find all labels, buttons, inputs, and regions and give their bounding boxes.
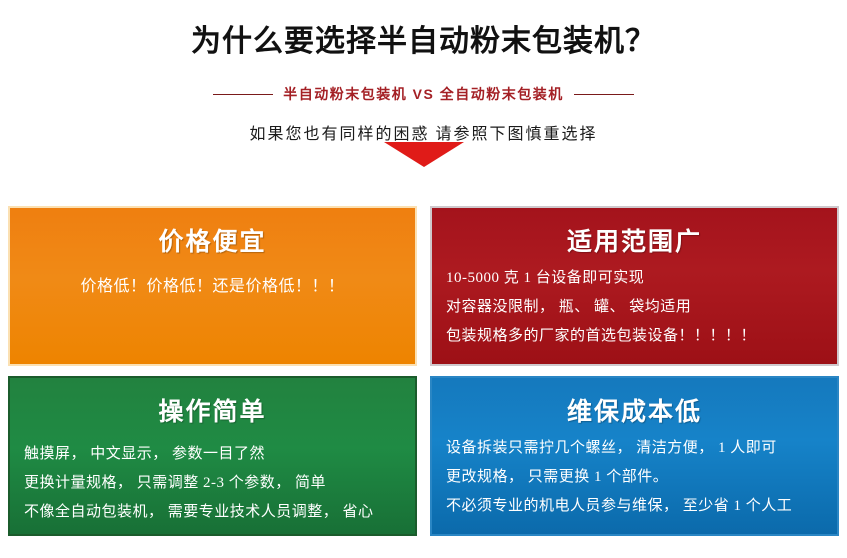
subtitle-text: 半自动粉末包装机 VS 全自动粉末包装机 [283, 84, 563, 104]
card-title: 适用范围广 [446, 222, 823, 258]
card-title: 操作简单 [24, 392, 401, 428]
page-title: 为什么要选择半自动粉末包装机？ [0, 24, 847, 60]
feature-card-simple-operation: 操作简单 触摸屏， 中文显示， 参数一目了然 更换计量规格， 只需调整 2-3 … [8, 376, 417, 536]
feature-card-wide-application: 适用范围广 10-5000 克 1 台设备即可实现 对容器没限制， 瓶、 罐、 … [430, 206, 839, 366]
feature-card-price-cheap: 价格便宜 价格低！价格低！还是价格低！！！ [8, 206, 417, 366]
arrow-container [0, 138, 847, 164]
feature-cards-grid: 价格便宜 价格低！价格低！还是价格低！！！ 适用范围广 10-5000 克 1 … [8, 206, 839, 536]
card-line: 不像全自动包装机， 需要专业技术人员调整， 省心 [24, 498, 401, 527]
card-body: 价格低！价格低！还是价格低！！！ [24, 272, 401, 301]
card-line: 设备拆装只需拧几个螺丝， 清洁方便， 1 人即可 [446, 434, 823, 463]
card-line: 更换计量规格， 只需调整 2-3 个参数， 简单 [24, 469, 401, 498]
down-triangle-arrow-icon [384, 142, 464, 167]
card-body: 10-5000 克 1 台设备即可实现 对容器没限制， 瓶、 罐、 袋均适用 包… [446, 264, 823, 351]
feature-card-low-maintenance-cost: 维保成本低 设备拆装只需拧几个螺丝， 清洁方便， 1 人即可 更改规格， 只需更… [430, 376, 839, 536]
card-line: 对容器没限制， 瓶、 罐、 袋均适用 [446, 293, 823, 322]
card-line: 包装规格多的厂家的首选包装设备！！！！！ [446, 322, 823, 351]
card-line: 触摸屏， 中文显示， 参数一目了然 [24, 440, 401, 469]
card-title: 维保成本低 [446, 392, 823, 428]
header: 为什么要选择半自动粉末包装机？ 半自动粉末包装机 VS 全自动粉末包装机 如果您… [0, 0, 847, 164]
infographic-page: 为什么要选择半自动粉末包装机？ 半自动粉末包装机 VS 全自动粉末包装机 如果您… [0, 0, 847, 558]
subtitle-rule-left [213, 94, 273, 95]
card-title: 价格便宜 [24, 222, 401, 258]
card-line: 价格低！价格低！还是价格低！！！ [24, 272, 401, 301]
subtitle-rule-right [574, 94, 634, 95]
card-line: 更改规格， 只需更换 1 个部件。 [446, 463, 823, 492]
subtitle-row: 半自动粉末包装机 VS 全自动粉末包装机 [0, 84, 847, 104]
card-line: 不必须专业的机电人员参与维保， 至少省 1 个人工 [446, 492, 823, 521]
card-line: 10-5000 克 1 台设备即可实现 [446, 264, 823, 293]
card-body: 触摸屏， 中文显示， 参数一目了然 更换计量规格， 只需调整 2-3 个参数， … [24, 440, 401, 527]
card-body: 设备拆装只需拧几个螺丝， 清洁方便， 1 人即可 更改规格， 只需更换 1 个部… [446, 434, 823, 521]
